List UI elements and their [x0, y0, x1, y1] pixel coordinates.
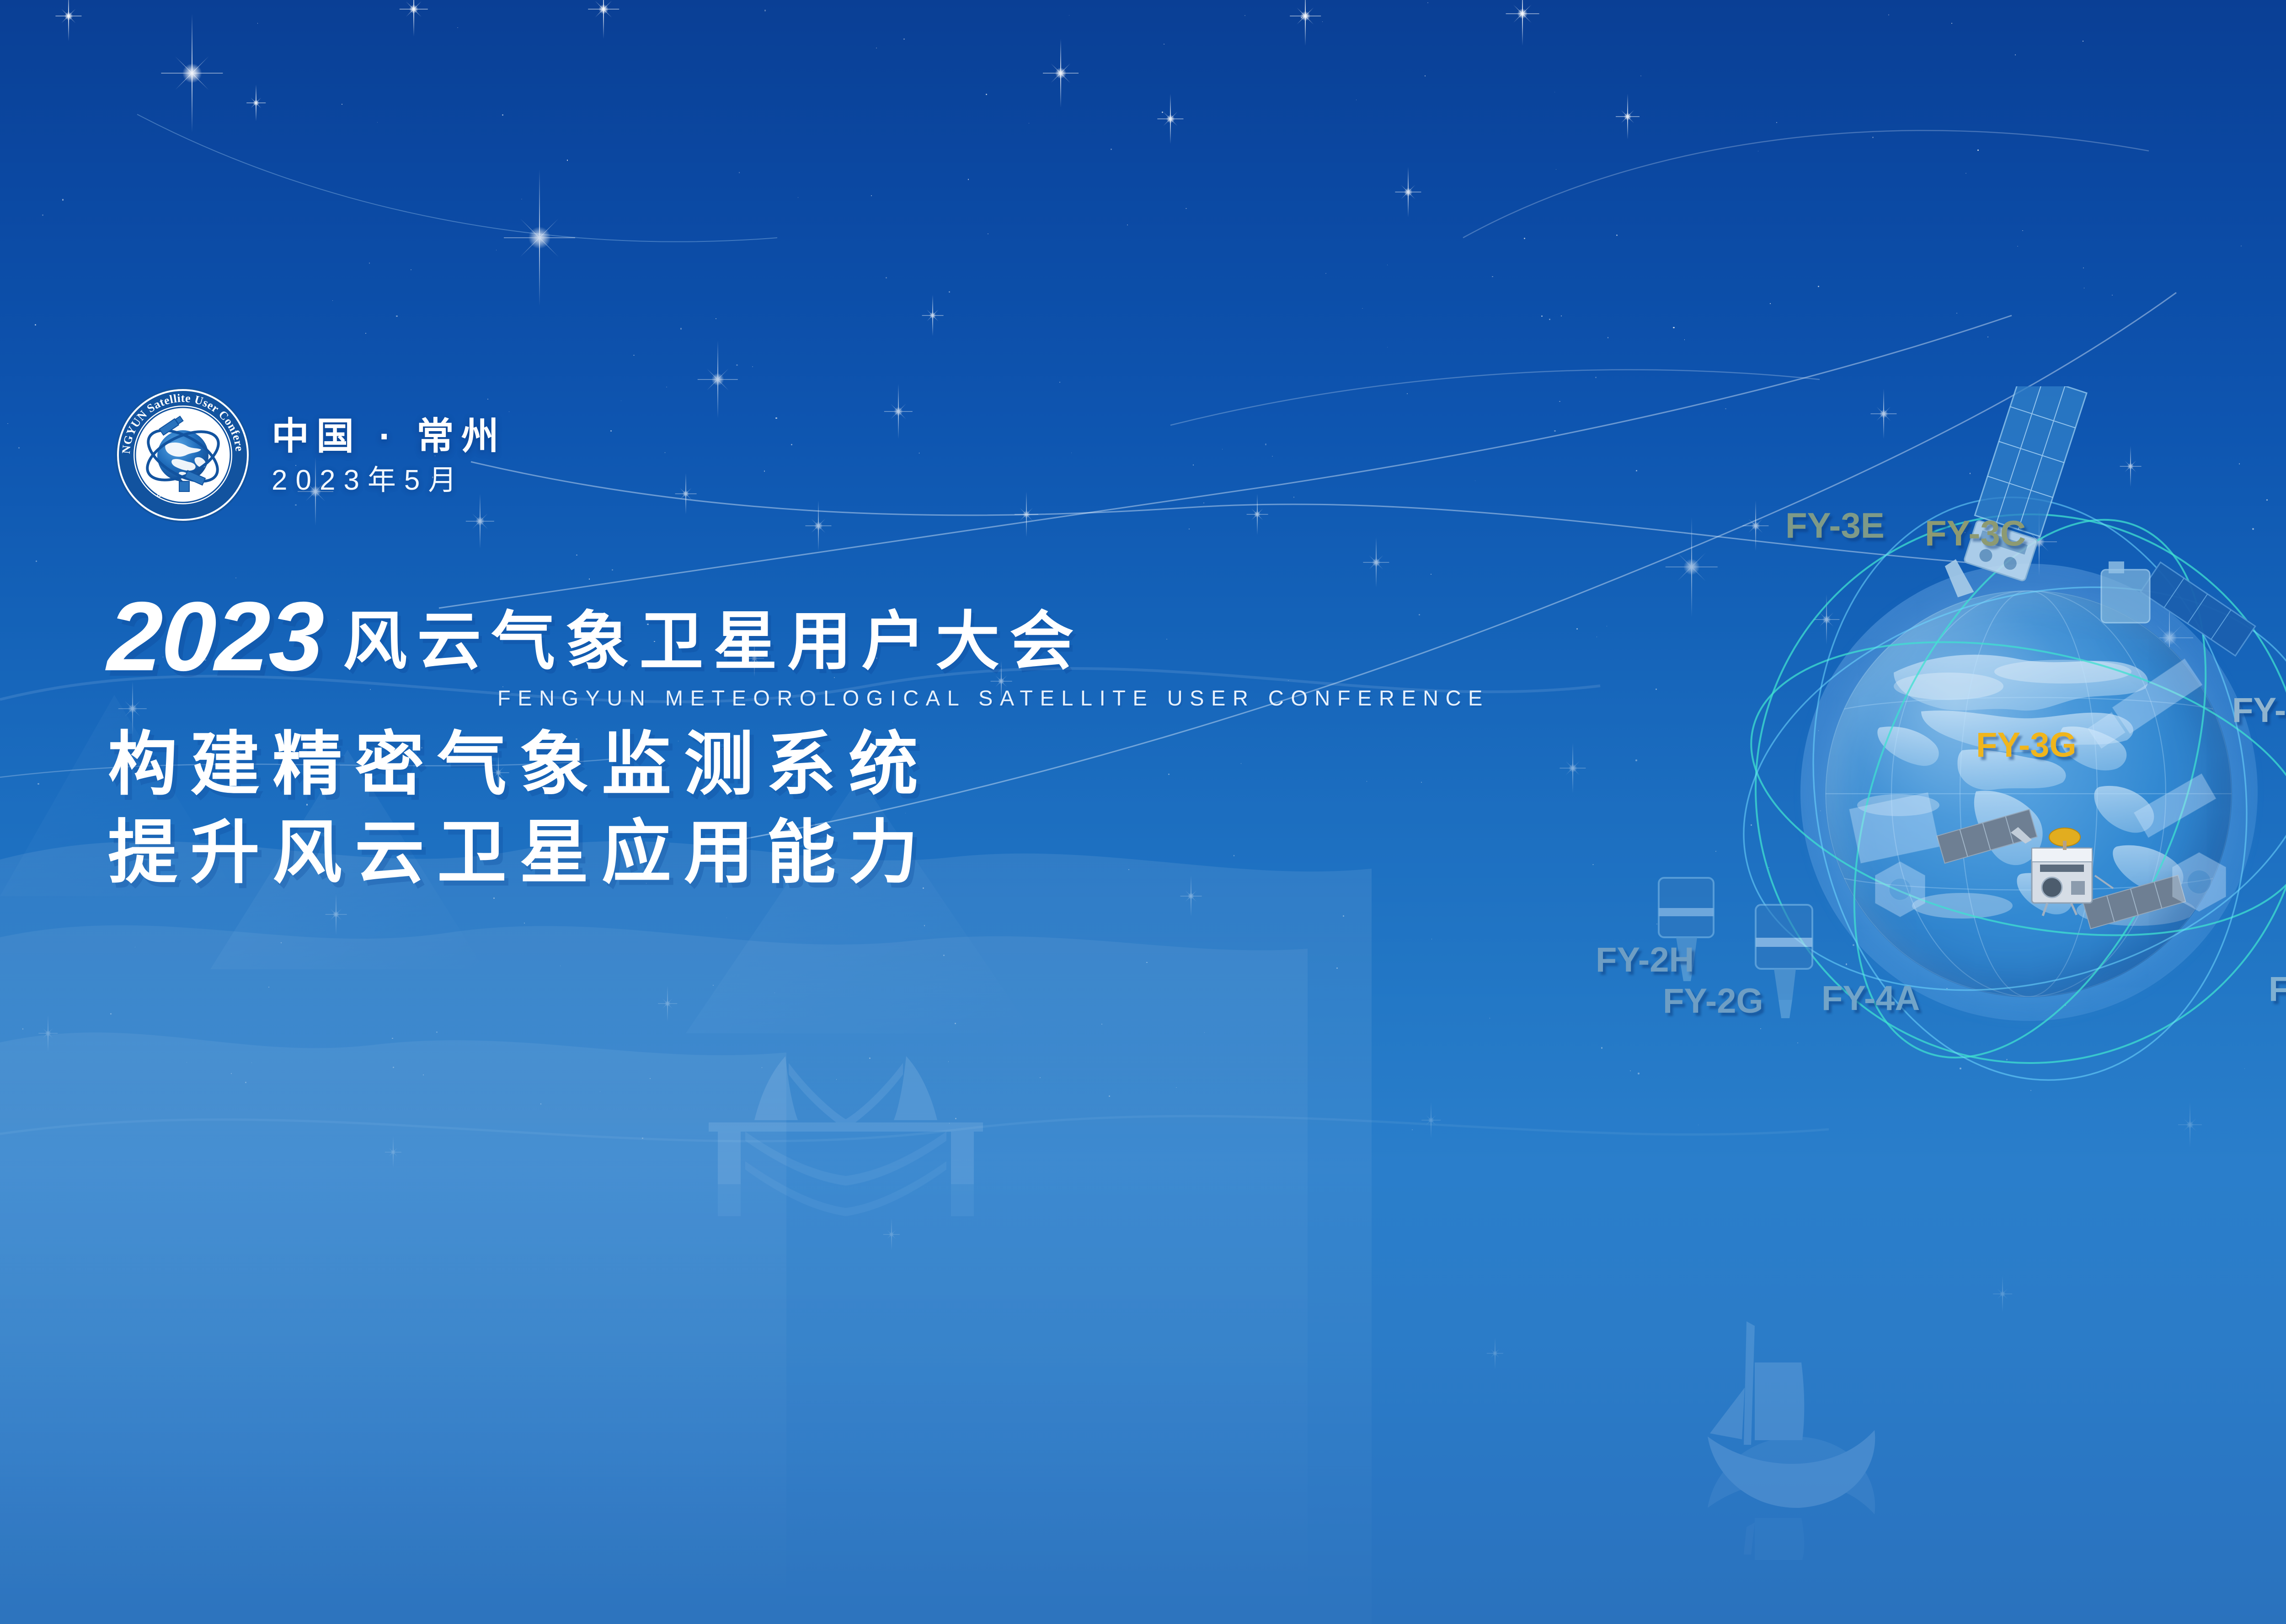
year-label: 2023 [107, 594, 325, 679]
star-dot [1407, 393, 1407, 394]
star-dot [1293, 497, 1295, 498]
location-date-block: 中国 · 常州 2023年5月 [272, 415, 506, 495]
star-dot [1987, 337, 1988, 337]
star-dot [612, 569, 613, 571]
star-dot [1101, 1024, 1102, 1025]
star-dot [1387, 265, 1388, 265]
star-dot [365, 333, 366, 334]
star-dot [764, 10, 766, 11]
star-dot [37, 783, 39, 785]
star-dot [436, 1031, 438, 1033]
star-dot [377, 122, 378, 123]
star-dot [943, 955, 945, 956]
star-dot [1872, 137, 1874, 138]
star-dot [716, 318, 716, 319]
star-dot [1356, 100, 1357, 100]
star-dot [281, 942, 282, 943]
star-dot [110, 1013, 112, 1015]
star-dot [1362, 308, 1362, 309]
star-dot [1336, 967, 1338, 969]
star-dot [1888, 14, 1890, 16]
star-dot [1069, 15, 1069, 16]
conference-name-en: FENGYUN METEOROLOGICAL SATELLITE USER CO… [497, 687, 1490, 709]
star-dot [1776, 122, 1777, 123]
star-dot [42, 214, 43, 216]
star-dot [502, 114, 503, 116]
star-dot [1559, 401, 1560, 402]
star-dot [2083, 41, 2083, 42]
star-dot [774, 993, 775, 993]
star-dot [342, 104, 342, 105]
star-dot [1684, 339, 1685, 340]
star-dot [2022, 230, 2023, 231]
star-dot [924, 925, 925, 926]
star-dot [1431, 574, 1431, 575]
star-dot [988, 234, 988, 234]
star-dot [986, 94, 987, 95]
star-dot [2084, 288, 2084, 288]
star-dot [235, 577, 236, 578]
star-dot [1272, 456, 1273, 457]
star-dot [680, 328, 682, 330]
star-dot [1635, 759, 1637, 761]
star-dot [7, 423, 8, 424]
star-dot [1818, 286, 1819, 287]
conference-banner: FENGYUN Satellite User Conference Changz… [0, 0, 2286, 1624]
star-dot [1492, 276, 1493, 278]
star-dot [332, 300, 333, 301]
star-dot [135, 947, 135, 947]
star-dot [1608, 337, 1608, 338]
star-dot [509, 411, 509, 412]
star-dot [919, 453, 920, 454]
star-dot [798, 197, 799, 198]
star-dot [752, 366, 753, 367]
star-dot [524, 923, 525, 924]
star-dot [713, 985, 714, 986]
star-dot [1193, 465, 1194, 465]
conference-seal: FENGYUN Satellite User Conference Changz… [114, 386, 251, 524]
title-row: 2023 风云气象卫星用户大会 [108, 594, 1490, 679]
star-dot [1244, 15, 1245, 16]
star-dot [903, 38, 905, 40]
star-dot [521, 199, 522, 200]
star-dot [726, 918, 727, 918]
star-dot [1541, 315, 1543, 317]
sailboat-silhouette [1682, 1308, 1920, 1564]
star-dot [1146, 962, 1148, 963]
star-dot [600, 1091, 601, 1092]
star-dot [1412, 1129, 1413, 1131]
star-dot [1029, 123, 1029, 123]
star-dot [1640, 75, 1641, 76]
fy-2h-satellite-graphic [1637, 869, 1742, 1006]
star-dot [1956, 313, 1957, 314]
star-dot [1387, 347, 1388, 348]
star-dot [736, 364, 738, 366]
star-dot [1162, 112, 1163, 113]
star-dot [62, 199, 64, 200]
star-dot [876, 48, 877, 48]
fy-2g-satellite-graphic [1733, 898, 1838, 1045]
star-dot [257, 23, 258, 23]
star-dot [493, 897, 495, 899]
star-dot [791, 444, 792, 445]
star-dot [1770, 303, 1770, 304]
star-dot [968, 179, 969, 180]
slogan-line-1: 构建精密气象监测系统 [108, 722, 1490, 807]
star-dot [1322, 21, 1323, 22]
star-dot [633, 355, 634, 356]
star-dot [1127, 224, 1128, 225]
star-dot [1204, 1032, 1205, 1033]
star-dot [2015, 54, 2016, 55]
star-dot [393, 1067, 394, 1068]
star-dot [1059, 382, 1060, 383]
star-dot [1725, 408, 1726, 410]
star-dot [251, 1063, 252, 1063]
star-dot [1554, 92, 1555, 92]
star-dot [1592, 864, 1593, 865]
star-dot [1616, 235, 1618, 236]
star-dot [775, 417, 777, 419]
star-dot [1595, 377, 1597, 378]
star-dot [245, 1082, 246, 1083]
location-label: 中国 · 常州 [272, 418, 506, 455]
star-dot [1951, 23, 1952, 24]
star-dot [621, 401, 621, 401]
star-dot [1638, 1073, 1639, 1074]
conference-name-cn: 风云气象卫星用户大会 [343, 609, 1084, 679]
fy-3c-satellite-graphic [2057, 535, 2268, 686]
star-dot [886, 277, 887, 278]
star-dot [1071, 453, 1072, 454]
header-lockup: FENGYUN Satellite User Conference Changz… [114, 386, 506, 524]
star-dot [1222, 449, 1223, 449]
star-dot [496, 250, 497, 251]
star-dot [1176, 1087, 1177, 1088]
star-dot [392, 1038, 393, 1039]
bridge-landmark-silhouette [640, 1047, 1052, 1239]
star-dot [576, 555, 577, 556]
star-dot [396, 315, 397, 317]
star-dot [1524, 238, 1525, 239]
star-dot [1189, 529, 1190, 529]
star-dot [1427, 2, 1428, 3]
slogan-line-2: 提升风云卫星应用能力 [108, 811, 1490, 895]
star-dot [1630, 1070, 1631, 1071]
star-dot [589, 578, 590, 579]
star-dot [1343, 915, 1344, 917]
title-block: 2023 风云气象卫星用户大会 FENGYUN METEOROLOGICAL S… [108, 594, 1490, 896]
star-dot [36, 561, 37, 561]
star-dot [1301, 17, 1302, 18]
star-dot [1490, 1018, 1490, 1019]
date-label: 2023年5月 [272, 466, 506, 495]
star-dot [1203, 502, 1204, 503]
star-dot [35, 324, 36, 326]
star-dot [560, 966, 561, 967]
star-dot [1758, 151, 1758, 151]
star-dot [1576, 628, 1578, 630]
star-dot [1673, 327, 1674, 328]
star-dot [268, 987, 269, 988]
star-dot [18, 447, 20, 449]
star-dot [1554, 430, 1556, 432]
star-dot [1966, 173, 1966, 174]
star-dot [949, 291, 950, 293]
star-dot [665, 452, 666, 453]
star-dot [1597, 636, 1597, 637]
star-dot [1425, 75, 1426, 76]
star-dot [2112, 295, 2113, 296]
star-dot [457, 27, 458, 28]
star-dot [2241, 246, 2242, 246]
star-dot [411, 269, 411, 270]
star-dot [22, 1028, 24, 1030]
star-dot [1636, 470, 1637, 471]
star-dot [1431, 939, 1432, 940]
star-dot [1325, 273, 1326, 274]
star-dot [423, 1074, 424, 1075]
star-dot [1109, 1095, 1110, 1097]
star-dot [739, 172, 740, 173]
star-dot [567, 160, 568, 160]
star-dot [231, 1073, 232, 1074]
star-dot [2083, 267, 2083, 268]
star-dot [540, 1103, 541, 1104]
star-dot [1186, 208, 1187, 209]
star-dot [1561, 315, 1562, 316]
star-dot [369, 262, 370, 264]
star-dot [1111, 149, 1112, 150]
star-dot [764, 470, 765, 471]
star-dot [1977, 150, 1979, 151]
star-dot [1601, 1047, 1602, 1048]
star-dot [1556, 169, 1556, 170]
star-dot [1164, 44, 1164, 45]
star-dot [187, 1062, 187, 1063]
star-dot [1475, 481, 1475, 481]
star-dot [2017, 246, 2018, 247]
star-dot [1549, 319, 1550, 320]
star-dot [666, 387, 667, 387]
star-dot [1265, 443, 1267, 445]
star-dot [871, 195, 872, 196]
star-dot [955, 1023, 956, 1024]
star-dot [1607, 626, 1607, 626]
star-dot [610, 430, 612, 432]
